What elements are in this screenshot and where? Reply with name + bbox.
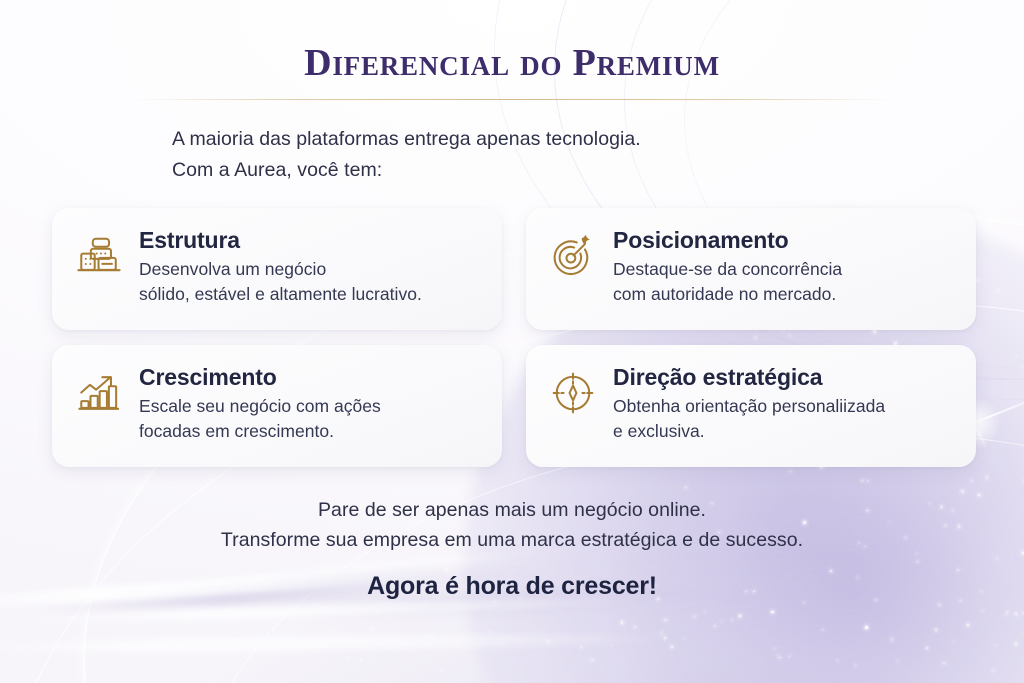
- card-title: Direção estratégica: [613, 365, 958, 391]
- card-description: Obtenha orientação personaliizada e excl…: [613, 394, 958, 444]
- intro-text: A maioria das plataformas entrega apenas…: [172, 124, 641, 186]
- card-desc-line-1: Desenvolva um negócio: [139, 257, 484, 282]
- card-desc-line-1: Escale seu negócio com ações: [139, 394, 484, 419]
- card-description: Escale seu negócio com ações focadas em …: [139, 394, 484, 444]
- card-desc-line-2: focadas em crescimento.: [139, 419, 484, 444]
- card-title: Crescimento: [139, 365, 484, 391]
- benefit-card-estrutura[interactable]: Estrutura Desenvolva um negócio sólido, …: [52, 208, 502, 330]
- footer-cta: Agora é hora de crescer!: [0, 572, 1024, 601]
- benefit-card-direcao-estrategica[interactable]: Direção estratégica Obtenha orientação p…: [526, 345, 976, 467]
- card-body: Direção estratégica Obtenha orientação p…: [613, 365, 958, 444]
- footer-line-2: Transforme sua empresa em uma marca estr…: [0, 525, 1024, 555]
- target-arrow-icon: [550, 233, 596, 279]
- footer: Pare de ser apenas mais um negócio onlin…: [0, 495, 1024, 601]
- card-body: Posicionamento Destaque-se da concorrênc…: [613, 228, 958, 307]
- card-title: Estrutura: [139, 228, 484, 254]
- slide-root: Diferencial do Premium A maioria das pla…: [0, 0, 1024, 683]
- card-body: Estrutura Desenvolva um negócio sólido, …: [139, 228, 484, 307]
- card-desc-line-2: sólido, estável e altamente lucrativo.: [139, 282, 484, 307]
- card-title: Posicionamento: [613, 228, 958, 254]
- card-desc-line-1: Destaque-se da concorrência: [613, 257, 958, 282]
- footer-line-1: Pare de ser apenas mais um negócio onlin…: [0, 495, 1024, 525]
- card-description: Destaque-se da concorrência com autorida…: [613, 257, 958, 307]
- intro-line-1: A maioria das plataformas entrega apenas…: [172, 124, 641, 155]
- title-divider: [132, 99, 892, 100]
- page-title: Diferencial do Premium: [0, 44, 1024, 82]
- card-desc-line-2: e exclusiva.: [613, 419, 958, 444]
- intro-line-2: Com a Aurea, você tem:: [172, 155, 641, 186]
- card-body: Crescimento Escale seu negócio com ações…: [139, 365, 484, 444]
- card-desc-line-2: com autoridade no mercado.: [613, 282, 958, 307]
- benefit-card-crescimento[interactable]: Crescimento Escale seu negócio com ações…: [52, 345, 502, 467]
- card-description: Desenvolva um negócio sólido, estável e …: [139, 257, 484, 307]
- benefit-card-posicionamento[interactable]: Posicionamento Destaque-se da concorrênc…: [526, 208, 976, 330]
- card-desc-line-1: Obtenha orientação personaliizada: [613, 394, 958, 419]
- building-icon: [76, 233, 122, 279]
- benefit-card-grid: Estrutura Desenvolva um negócio sólido, …: [52, 208, 976, 467]
- growth-chart-icon: [76, 370, 122, 416]
- header: Diferencial do Premium: [0, 44, 1024, 100]
- compass-icon: [550, 370, 596, 416]
